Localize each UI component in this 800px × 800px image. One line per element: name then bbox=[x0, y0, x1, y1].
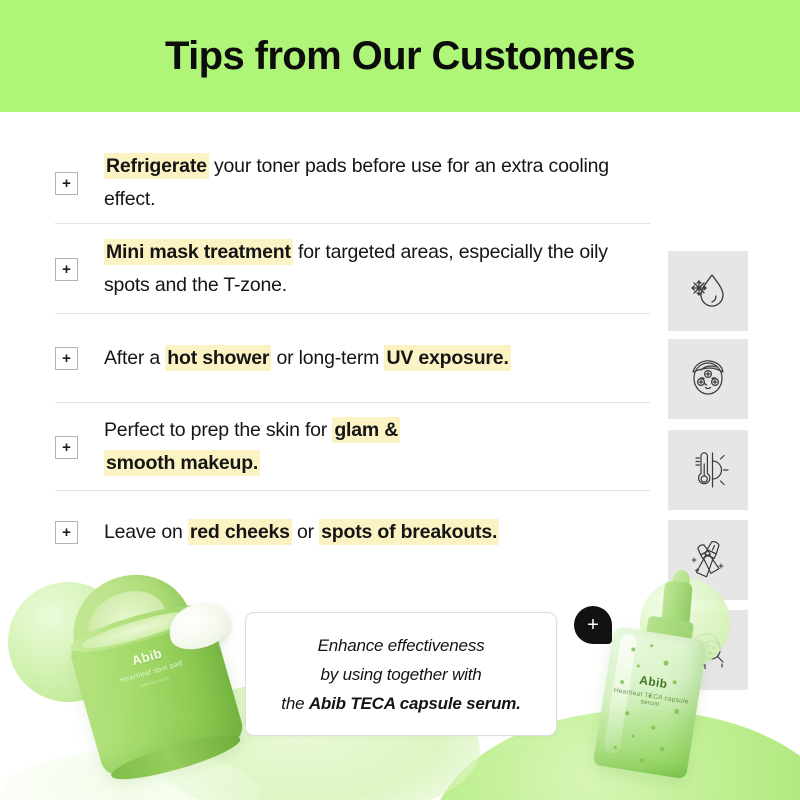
tip-content: + After a hot shower or long-term UV exp… bbox=[55, 342, 650, 375]
tip-row[interactable]: + After a hot shower or long-term UV exp… bbox=[55, 315, 750, 402]
callout-line-3-prefix: the bbox=[281, 694, 309, 713]
tip-highlight: Refrigerate bbox=[104, 153, 209, 179]
tip-plain: Perfect to prep the skin for bbox=[104, 419, 332, 441]
product-jar: Abib Heartleaf spot pad calming touch bbox=[18, 570, 258, 790]
tip-text: Perfect to prep the skin for glam & smoo… bbox=[104, 414, 434, 480]
tip-content: + Leave on red cheeks or spots of breako… bbox=[55, 516, 650, 549]
tip-divider bbox=[55, 223, 650, 224]
callout-line-3: the Abib TECA capsule serum. bbox=[281, 689, 520, 718]
tip-text: Mini mask treatment for targeted areas, … bbox=[104, 236, 624, 302]
plus-icon[interactable]: + bbox=[55, 436, 78, 459]
product-serum: Abib Heartleaf TECA capsule serum bbox=[556, 566, 762, 800]
tip-text: After a hot shower or long-term UV expos… bbox=[104, 342, 511, 375]
tip-row[interactable]: + Perfect to prep the skin for glam & sm… bbox=[55, 404, 750, 490]
tip-plain: After a bbox=[104, 347, 165, 369]
tip-row[interactable]: + Refrigerate your toner pads before use… bbox=[55, 140, 750, 226]
plus-icon[interactable]: + bbox=[55, 172, 78, 195]
tip-highlight: hot shower bbox=[165, 345, 271, 371]
tip-plain: or bbox=[292, 521, 319, 543]
page-header: Tips from Our Customers bbox=[0, 0, 800, 112]
callout-card: Enhance effectiveness by using together … bbox=[245, 612, 557, 736]
callout-line-2: by using together with bbox=[321, 660, 482, 689]
plus-badge-icon: + bbox=[587, 615, 599, 635]
tips-list: + Refrigerate your toner pads before use… bbox=[0, 112, 800, 590]
tip-content: + Perfect to prep the skin for glam & sm… bbox=[55, 414, 650, 480]
tips-infographic-page: Tips from Our Customers + Refrigerate yo… bbox=[0, 0, 800, 800]
callout-line-1: Enhance effectiveness bbox=[318, 631, 485, 660]
tip-highlight: red cheeks bbox=[188, 519, 292, 545]
tip-text: Leave on red cheeks or spots of breakout… bbox=[104, 516, 499, 549]
tip-divider bbox=[55, 490, 650, 491]
tip-content: + Refrigerate your toner pads before use… bbox=[55, 150, 650, 216]
tip-divider bbox=[55, 402, 650, 403]
plus-icon[interactable]: + bbox=[55, 521, 78, 544]
serum-body: Abib Heartleaf TECA capsule serum bbox=[593, 626, 708, 779]
page-title: Tips from Our Customers bbox=[165, 34, 635, 79]
callout-line-3-bold: Abib TECA capsule serum. bbox=[309, 694, 521, 713]
tip-highlight: spots of breakouts. bbox=[319, 519, 499, 545]
plus-badge: + bbox=[574, 606, 612, 644]
tip-text: Refrigerate your toner pads before use f… bbox=[104, 150, 624, 216]
tip-content: + Mini mask treatment for targeted areas… bbox=[55, 236, 650, 302]
tip-plain: Leave on bbox=[104, 521, 188, 543]
tip-row[interactable]: + Mini mask treatment for targeted areas… bbox=[55, 225, 750, 313]
tip-highlight: UV exposure. bbox=[384, 345, 510, 371]
tip-plain: or long-term bbox=[271, 347, 384, 369]
tip-divider bbox=[55, 313, 650, 314]
plus-icon[interactable]: + bbox=[55, 258, 78, 281]
tip-highlight: Mini mask treatment bbox=[104, 239, 293, 265]
jar-bottom bbox=[108, 727, 243, 787]
plus-icon[interactable]: + bbox=[55, 347, 78, 370]
